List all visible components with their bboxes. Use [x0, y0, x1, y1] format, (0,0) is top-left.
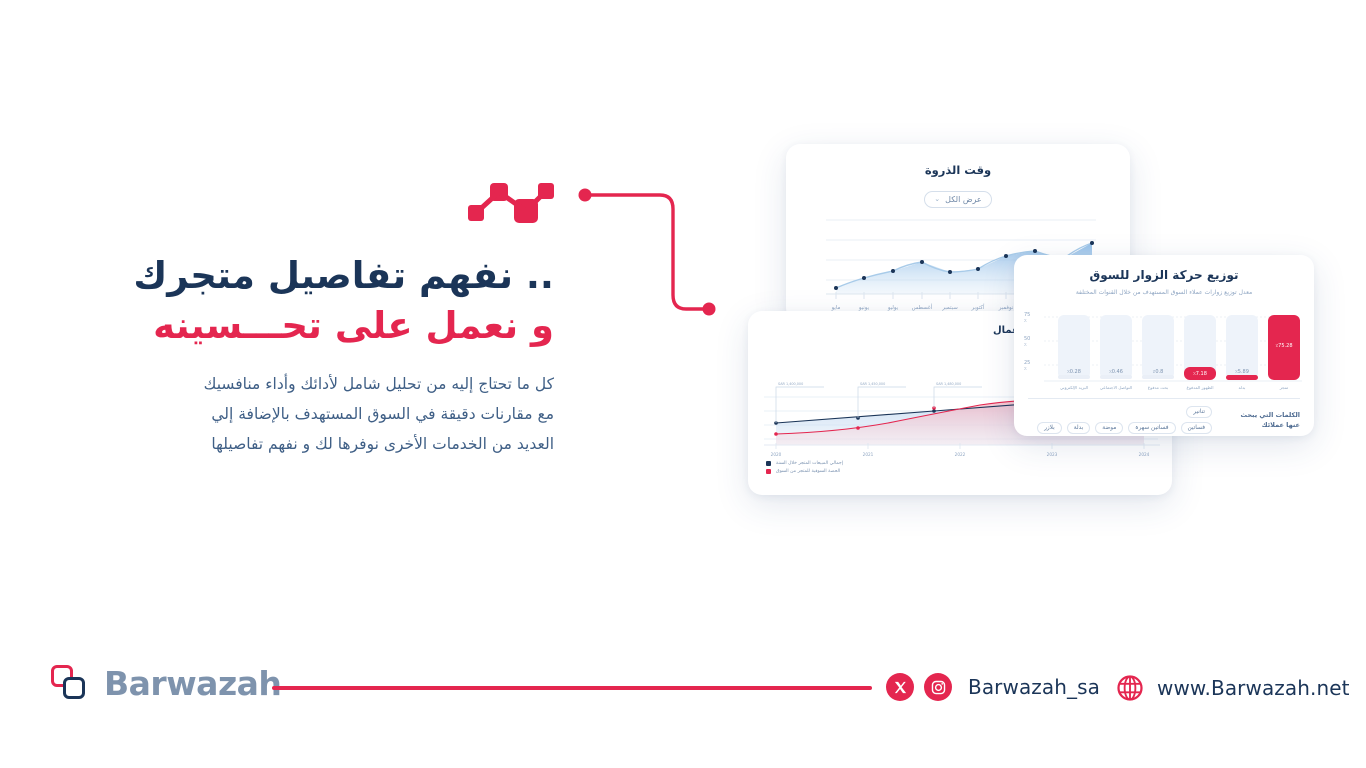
market-ytick-75-pct: ٪: [1024, 318, 1027, 324]
growth-tick-1: 2021: [863, 452, 874, 457]
brand-lockup: Barwazah: [50, 663, 281, 703]
hero-subtitle-line-2: مع مقارنات دقيقة في السوق المستهدف بالإض…: [0, 400, 554, 430]
growth-tick-3: 2023: [1047, 452, 1058, 457]
keyword-tag[interactable]: فساتين سهرة: [1128, 422, 1175, 434]
legend-swatch-navy: [766, 461, 771, 466]
chevron-down-icon: ⌄: [934, 196, 940, 203]
website-group: www.Barwazah.net: [1115, 673, 1350, 703]
peak-x-axis-labels: مايو يونيو يوليو أغسطس سبتمبر أكتوبر نوف…: [831, 303, 1044, 311]
bar-email: [1058, 375, 1090, 379]
cat-social: التواصل الاجتماعي: [1100, 385, 1132, 390]
connector-dot-start: [579, 189, 592, 202]
hero-subtitle-line-1: كل ما تحتاج إليه من تحليل شامل لأدائك وأ…: [0, 370, 554, 400]
keyword-tag[interactable]: بدلة: [1067, 422, 1091, 434]
market-y-axis-labels: 75٪ 50٪ 25٪: [1024, 312, 1030, 372]
peak-filter-dropdown[interactable]: ⌄ عرض الكل: [924, 191, 991, 208]
market-traffic-bar-chart: 75٪ 50٪ 25٪: [1014, 307, 1314, 397]
peak-tick-5: أكتوبر: [971, 303, 985, 311]
cat-email: البريد الإلكتروني: [1060, 385, 1088, 391]
keywords-section-label: الكلمات التي يبحث عنها عملائك: [1226, 406, 1300, 431]
legend-item-market-share: الحصة السوقية للمتجر من السوق: [766, 469, 843, 474]
growth-annotation-2: SAR 1,480,000: [936, 382, 961, 386]
value-label-email: ٪0.28: [1067, 369, 1081, 375]
keyword-tag[interactable]: تنانير: [1186, 406, 1212, 418]
value-label-paid-search: ٪0.8: [1153, 369, 1164, 375]
cat-paid-impressions: الظهور المدفوع: [1186, 385, 1213, 390]
market-ytick-50-pct: ٪: [1024, 342, 1027, 348]
growth-annotation-1: SAR 1,450,000: [860, 382, 885, 386]
globe-icon[interactable]: [1115, 673, 1145, 703]
value-label-paid-impressions: ٪7.18: [1193, 371, 1207, 377]
market-card-title: توزيع حركة الزوار للسوق: [1014, 268, 1314, 282]
growth-x-axis-labels: 2020 2021 2022 2023 2024: [771, 452, 1150, 457]
growth-legend: إجمالي المبيعات المتجر خلال السنة الحصة …: [766, 461, 843, 477]
keyword-tag[interactable]: بلازر: [1037, 422, 1062, 434]
keyword-tag[interactable]: فساتين: [1181, 422, 1212, 434]
growth-tick-4: 2024: [1139, 452, 1150, 457]
growth-annotation-0: SAR 1,400,000: [778, 382, 803, 386]
cat-store: متجر: [1279, 385, 1289, 390]
peak-filter-label: عرض الكل: [945, 195, 982, 204]
legend-label-total-sales: إجمالي المبيعات المتجر خلال السنة: [776, 461, 843, 466]
network-nodes-icon: [468, 183, 554, 231]
legend-label-market-share: الحصة السوقية للمتجر من السوق: [776, 469, 840, 474]
card-market-traffic: توزيع حركة الزوار للسوق معدل توزيع زوارا…: [1014, 255, 1314, 436]
legend-swatch-red: [766, 469, 771, 474]
market-keywords-block: فساتين فساتين سهرة موضة بدلة بلازر تناني…: [1028, 398, 1300, 434]
legend-item-total-sales: إجمالي المبيعات المتجر خلال السنة: [766, 461, 843, 466]
market-category-labels: البريد الإلكتروني التواصل الاجتماعي بحث …: [1060, 385, 1288, 391]
x-icon[interactable]: [886, 673, 914, 701]
connector-line: [575, 185, 725, 320]
value-label-social: ٪0.46: [1109, 369, 1123, 375]
value-label-baldah: ٪5.89: [1235, 369, 1249, 375]
poster-canvas: نفهم تفاصيل متجرك .. و نعمل على تحـــسين…: [0, 0, 1366, 768]
market-card-subtitle: معدل توزيع زوارات عملاء السوق المستهدف م…: [1014, 288, 1314, 297]
bar-paid-search: [1142, 375, 1174, 379]
footer-divider-rule: [272, 686, 872, 690]
logo-square-navy: [63, 677, 85, 699]
cat-baldah: بدلة: [1239, 385, 1246, 390]
peak-tick-3: أغسطس: [912, 303, 933, 311]
barwazah-logo-icon: [50, 663, 90, 703]
hero-subtitle: كل ما تحتاج إليه من تحليل شامل لأدائك وأ…: [0, 370, 554, 459]
brand-name: Barwazah: [104, 664, 281, 703]
bar-social: [1100, 375, 1132, 379]
instagram-icon[interactable]: [924, 673, 952, 701]
market-bars: [1058, 315, 1300, 380]
social-group: Barwazah_sa: [886, 673, 1100, 701]
growth-tick-0: 2020: [771, 452, 782, 457]
value-label-store: ٪75.28: [1276, 343, 1293, 349]
keyword-tag[interactable]: موضة: [1095, 422, 1123, 434]
hero-title-line-1: نفهم تفاصيل متجرك ..: [0, 251, 554, 301]
market-ytick-25-pct: ٪: [1024, 366, 1027, 372]
page-title: نفهم تفاصيل متجرك .. و نعمل على تحـــسين…: [0, 251, 554, 350]
hero-section: نفهم تفاصيل متجرك .. و نعمل على تحـــسين…: [0, 175, 570, 459]
growth-annotations: SAR 1,400,000 SAR 1,450,000 SAR 1,480,00…: [778, 382, 961, 386]
hero-title-line-2: و نعمل على تحـــسينه: [0, 301, 554, 351]
keyword-tag-list: فساتين فساتين سهرة موضة بدلة بلازر تناني…: [1028, 406, 1212, 434]
keywords-divider: [1028, 398, 1300, 399]
bar-baldah: [1226, 375, 1258, 380]
cat-paid-search: بحث مدفوع: [1148, 385, 1168, 390]
connector-dot-end: [703, 303, 716, 316]
website-url[interactable]: www.Barwazah.net: [1157, 676, 1350, 700]
growth-tick-2: 2022: [955, 452, 966, 457]
social-handle[interactable]: Barwazah_sa: [968, 675, 1100, 699]
footer-bar: Barwazah Barwazah_sa: [0, 655, 1366, 725]
peak-card-title: وقت الذروة: [786, 163, 1130, 177]
hero-subtitle-line-3: العديد من الخدمات الأخرى نوفرها لك و نفه…: [0, 430, 554, 460]
